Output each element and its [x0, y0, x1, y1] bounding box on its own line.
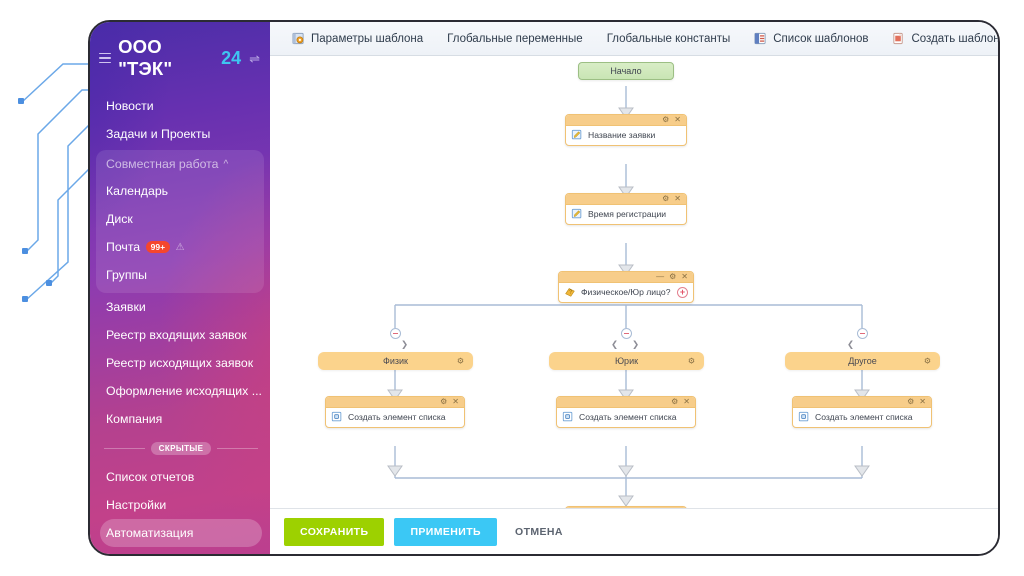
sidebar-group-header[interactable]: Совместная работа ^ — [96, 150, 264, 177]
flow-node-registration-time[interactable]: ⚙ ✕ Время регистрации — [565, 193, 687, 225]
hamburger-icon[interactable] — [99, 53, 111, 64]
create-template-icon — [892, 32, 905, 45]
flow-node-condition[interactable]: — ⚙ ✕ ? Физическое/Юр лицо? + — [558, 271, 694, 303]
toolbar-item-create-template[interactable]: Создать шаблон ▾ — [880, 22, 998, 55]
sidebar-group-collaboration: Совместная работа ^ Календарь Диск Почта… — [96, 150, 264, 293]
node-caption-bar: ⚙ ✕ — [326, 397, 464, 408]
branch-prev-arrow-2[interactable]: ❮ — [611, 340, 618, 349]
branch-collapse-toggle-2[interactable] — [621, 328, 632, 339]
node-label: Создать элемент списка — [348, 412, 446, 422]
sidebar-item-label: Заявки — [106, 300, 146, 314]
start-node-label: Начало — [578, 62, 674, 80]
sidebar-item-label: Автоматизация — [106, 526, 193, 540]
branch-label: Физик — [383, 356, 408, 366]
list-item-icon — [562, 411, 574, 423]
sidebar-item-label: Новости — [106, 99, 154, 113]
save-button[interactable]: СОХРАНИТЬ — [284, 518, 384, 546]
sidebar-item-incoming-registry[interactable]: Реестр входящих заявок — [90, 321, 270, 349]
sidebar-item-label: Оформление исходящих ... — [106, 384, 262, 398]
sidebar-item-services[interactable]: Сервисы — [90, 547, 270, 554]
sidebar-item-reports-list[interactable]: Список отчетов — [90, 463, 270, 491]
flow-node-start[interactable]: Начало — [578, 62, 674, 80]
flow-branch-fizik[interactable]: Физик ⚙ — [318, 352, 473, 370]
branch-label: Юрик — [615, 356, 638, 366]
svg-text:?: ? — [569, 290, 572, 296]
node-label: Название заявки — [588, 130, 655, 140]
divider-line — [217, 448, 258, 449]
node-label: Создать элемент списка — [815, 412, 913, 422]
sidebar-item-groups[interactable]: Группы — [96, 261, 264, 289]
list-item-icon — [331, 411, 343, 423]
node-caption-bar: ⚙ ✕ — [566, 115, 686, 126]
sidebar-item-label: Календарь — [106, 184, 168, 198]
template-settings-icon — [292, 32, 305, 45]
sidebar-item-outgoing-registry[interactable]: Реестр исходящих заявок — [90, 349, 270, 377]
toolbar-item-label: Глобальные переменные — [447, 33, 583, 45]
flow-branch-yurik[interactable]: Юрик ⚙ — [549, 352, 704, 370]
sidebar-item-label: Настройки — [106, 498, 166, 512]
add-branch-button[interactable]: + — [677, 287, 688, 298]
sidebar-item-settings[interactable]: Настройки — [90, 491, 270, 519]
flow-node-create-list-item-2[interactable]: ⚙ ✕ Создать элемент списка — [556, 396, 696, 428]
sidebar-item-label: Задачи и Проекты — [106, 127, 210, 141]
close-icon[interactable]: ✕ — [674, 116, 681, 124]
sidebar-item-requests[interactable]: Заявки — [90, 293, 270, 321]
node-body: Время регистрации — [566, 205, 686, 224]
form-action-bar: СОХРАНИТЬ ПРИМЕНИТЬ ОТМЕНА — [270, 508, 998, 554]
list-item-icon — [798, 411, 810, 423]
sidebar-item-news[interactable]: Новости — [90, 92, 270, 120]
minimize-icon[interactable]: — — [656, 273, 664, 281]
cancel-button[interactable]: ОТМЕНА — [507, 518, 579, 546]
close-icon[interactable]: ✕ — [919, 398, 926, 406]
sidebar-item-label: Компания — [106, 412, 162, 426]
toolbar-item-global-constants[interactable]: Глобальные константы — [595, 22, 743, 55]
switch-icon[interactable]: ⇌ — [249, 52, 260, 65]
toolbar-item-label: Список шаблонов — [773, 33, 868, 45]
toolbar-item-template-list[interactable]: Список шаблонов — [742, 22, 880, 55]
workflow-canvas[interactable]: Начало ⚙ ✕ Название заявки — [270, 56, 998, 508]
node-body: Создать элемент списка — [557, 408, 695, 427]
node-body: Создать элемент списка — [793, 408, 931, 427]
gear-icon[interactable]: ⚙ — [457, 357, 464, 366]
gear-icon[interactable]: ⚙ — [671, 398, 678, 406]
flow-node-create-list-item-1[interactable]: ⚙ ✕ Создать элемент списка — [325, 396, 465, 428]
sidebar-item-company[interactable]: Компания — [90, 405, 270, 433]
warning-triangle-icon: ⚠ — [176, 242, 185, 253]
toolbar-item-label: Глобальные константы — [607, 33, 731, 45]
toolbar-item-label: Параметры шаблона — [311, 33, 423, 45]
divider-line — [104, 448, 145, 449]
gear-icon[interactable]: ⚙ — [662, 195, 669, 203]
gear-icon[interactable]: ⚙ — [662, 116, 669, 124]
branch-bar: Физик ⚙ — [318, 352, 473, 370]
close-icon[interactable]: ✕ — [674, 195, 681, 203]
edit-document-icon — [571, 208, 583, 220]
flow-branch-other[interactable]: Другое ⚙ — [785, 352, 940, 370]
node-body: ? Физическое/Юр лицо? + — [559, 283, 693, 302]
sidebar-item-label: Реестр исходящих заявок — [106, 356, 253, 370]
node-label: Физическое/Юр лицо? — [581, 287, 672, 297]
branch-prev-arrow-3[interactable]: ❮ — [847, 340, 854, 349]
flow-node-create-list-item-3[interactable]: ⚙ ✕ Создать элемент списка — [792, 396, 932, 428]
sidebar-item-label: Группы — [106, 268, 147, 282]
sidebar-item-mail[interactable]: Почта 99+ ⚠ — [96, 233, 264, 261]
branch-bar: Юрик ⚙ — [549, 352, 704, 370]
brand-name: ООО "ТЭК" — [118, 36, 214, 80]
sidebar-item-label: Реестр входящих заявок — [106, 328, 247, 342]
branch-bar: Другое ⚙ — [785, 352, 940, 370]
condition-question-icon: ? — [564, 286, 576, 298]
branch-next-arrow-1[interactable]: ❯ — [401, 340, 408, 349]
sidebar-nav-list: Новости Задачи и Проекты Совместная рабо… — [90, 92, 270, 554]
close-icon[interactable]: ✕ — [681, 273, 688, 281]
node-caption-bar: ⚙ ✕ — [557, 397, 695, 408]
sidebar-item-automation[interactable]: Автоматизация — [100, 519, 262, 547]
branch-collapse-toggle-3[interactable] — [857, 328, 868, 339]
sidebar-item-label: Почта — [106, 240, 140, 254]
gear-icon[interactable]: ⚙ — [688, 357, 695, 366]
flow-node-request-name[interactable]: ⚙ ✕ Название заявки — [565, 114, 687, 146]
node-caption-bar: ⚙ ✕ — [566, 194, 686, 205]
brand-suffix: 24 — [221, 48, 241, 69]
gear-icon[interactable]: ⚙ — [924, 357, 931, 366]
template-toolbar: Параметры шаблона Глобальные переменные … — [270, 22, 998, 56]
close-icon[interactable]: ✕ — [683, 398, 690, 406]
app-window: ООО "ТЭК" 24 ⇌ Новости Задачи и Проекты … — [88, 20, 1000, 556]
toolbar-item-label: Создать шаблон — [911, 33, 998, 45]
sidebar-item-outgoing-processing[interactable]: Оформление исходящих ... — [90, 377, 270, 405]
node-label: Время регистрации — [588, 209, 666, 219]
apply-button[interactable]: ПРИМЕНИТЬ — [394, 518, 497, 546]
sidebar-header: ООО "ТЭК" 24 ⇌ — [90, 22, 270, 92]
toolbar-item-global-variables[interactable]: Глобальные переменные — [435, 22, 595, 55]
gear-icon[interactable]: ⚙ — [907, 398, 914, 406]
branch-collapse-toggle-1[interactable] — [390, 328, 401, 339]
toolbar-item-template-params[interactable]: Параметры шаблона — [280, 22, 435, 55]
sidebar-item-label: Диск — [106, 212, 133, 226]
sidebar-item-tasks-projects[interactable]: Задачи и Проекты — [90, 120, 270, 148]
sidebar-item-calendar[interactable]: Календарь — [96, 177, 264, 205]
sidebar-hidden-divider: СКРЫТЫЕ — [90, 433, 270, 463]
edit-document-icon — [571, 129, 583, 141]
template-list-icon — [754, 32, 767, 45]
hidden-section-label: СКРЫТЫЕ — [151, 442, 212, 455]
mail-unread-badge: 99+ — [146, 241, 169, 253]
branch-label: Другое — [848, 356, 877, 366]
node-caption-bar: ⚙ ✕ — [793, 397, 931, 408]
chevron-up-icon: ^ — [224, 159, 229, 170]
node-body: Название заявки — [566, 126, 686, 145]
branch-next-arrow-2[interactable]: ❯ — [632, 340, 639, 349]
sidebar-item-label: Список отчетов — [106, 470, 194, 484]
sidebar: ООО "ТЭК" 24 ⇌ Новости Задачи и Проекты … — [90, 22, 270, 554]
close-icon[interactable]: ✕ — [452, 398, 459, 406]
node-caption-bar: — ⚙ ✕ — [559, 272, 693, 283]
node-body: Создать элемент списка — [326, 408, 464, 427]
node-label: Создать элемент списка — [579, 412, 677, 422]
gear-icon[interactable]: ⚙ — [669, 273, 676, 281]
main-panel: Параметры шаблона Глобальные переменные … — [270, 22, 998, 554]
gear-icon[interactable]: ⚙ — [440, 398, 447, 406]
sidebar-group-label: Совместная работа — [106, 157, 219, 171]
sidebar-item-disk[interactable]: Диск — [96, 205, 264, 233]
